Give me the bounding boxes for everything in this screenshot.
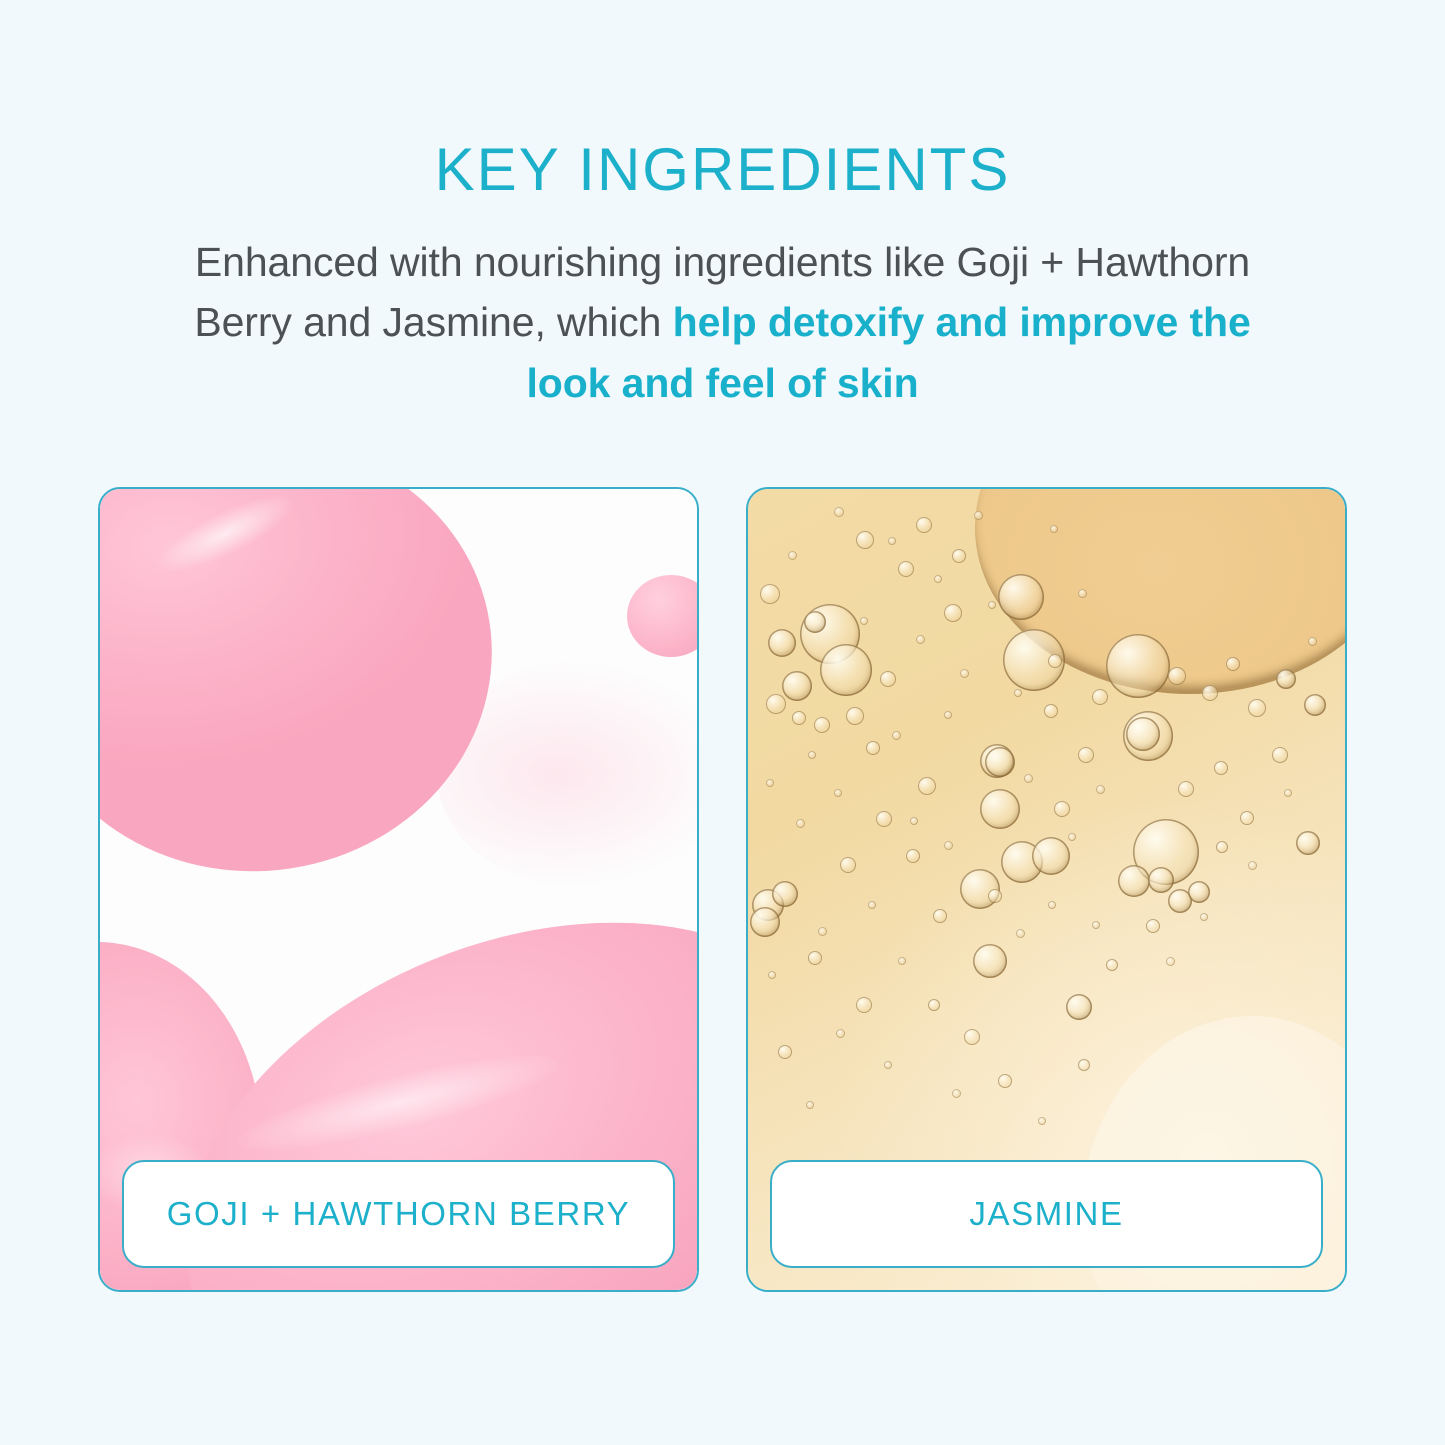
oil-bubble [1200, 913, 1208, 921]
oil-bubble [1248, 699, 1266, 717]
card-caption-panel: JASMINE [770, 1160, 1323, 1268]
oil-bubble [782, 671, 812, 701]
oil-bubble [766, 694, 786, 714]
page-title: KEY INGREDIENTS [0, 0, 1445, 200]
oil-bubble [1016, 929, 1025, 938]
oil-bubble [898, 561, 914, 577]
header-block: KEY INGREDIENTS Enhanced with nourishing… [0, 0, 1445, 413]
oil-bubble [860, 617, 868, 625]
oil-bubble [1054, 801, 1070, 817]
oil-bubble [1092, 689, 1108, 705]
oil-bubble [1304, 694, 1326, 716]
oil-bubble [1226, 657, 1240, 671]
oil-bubble [1106, 634, 1170, 698]
oil-bubble [1214, 761, 1228, 775]
oil-bubble [906, 849, 920, 863]
oil-bubble [916, 635, 925, 644]
oil-bubble [768, 629, 796, 657]
oil-bubble [880, 671, 896, 687]
oil-bubble [1126, 717, 1160, 751]
oil-bubble [1038, 1117, 1046, 1125]
ingredient-card-goji-hawthorn-berry[interactable]: GOJI + HAWTHORN BERRY [98, 487, 699, 1292]
oil-bubble [1308, 637, 1317, 646]
oil-bubble [1044, 704, 1058, 718]
oil-bubble [933, 909, 947, 923]
oil-bubble [836, 1029, 845, 1038]
oil-bubble [974, 511, 983, 520]
oil-bubble [1050, 525, 1058, 533]
oil-bubble [876, 811, 892, 827]
oil-bubble [834, 507, 844, 517]
oil-bubble [766, 779, 774, 787]
oil-bubble [1148, 867, 1174, 893]
ingredient-label: JASMINE [969, 1195, 1123, 1233]
oil-bubble [772, 881, 798, 907]
oil-bubble [814, 717, 830, 733]
oil-bubble [1248, 861, 1257, 870]
oil-bubble [1216, 841, 1228, 853]
oil-bubble [808, 951, 822, 965]
oil-bubble [778, 1045, 792, 1059]
oil-bubble [1188, 881, 1210, 903]
oil-bubble [944, 711, 952, 719]
oil-bubble [834, 789, 842, 797]
key-ingredients-infographic: KEY INGREDIENTS Enhanced with nourishing… [0, 0, 1445, 1445]
oil-bubble [1078, 589, 1087, 598]
oil-bubble [1092, 921, 1100, 929]
oil-bubble [1118, 865, 1150, 897]
oil-bubble [1146, 919, 1160, 933]
oil-bubble [980, 789, 1020, 829]
oil-bubble [964, 1029, 980, 1045]
oil-bubble [888, 537, 896, 545]
oil-bubble [985, 747, 1015, 777]
oil-bubble [944, 841, 953, 850]
oil-bubble [808, 751, 816, 759]
ingredient-card-row: GOJI + HAWTHORN BERRY [98, 487, 1347, 1292]
oil-bubble [998, 574, 1044, 620]
oil-bubble [928, 999, 940, 1011]
card-caption-panel: GOJI + HAWTHORN BERRY [122, 1160, 675, 1268]
oil-bubble [973, 944, 1007, 978]
oil-bubble [898, 957, 906, 965]
pink-blob-small-right [627, 575, 697, 657]
oil-bubble [884, 1061, 892, 1069]
oil-bubble [1166, 957, 1175, 966]
oil-bubble [1096, 785, 1105, 794]
oil-bubble [952, 1089, 961, 1098]
oil-bubble [910, 817, 918, 825]
oil-bubble [1048, 654, 1062, 668]
oil-bubble [988, 889, 1002, 903]
oil-bubble [856, 531, 874, 549]
oil-bubble [1240, 811, 1254, 825]
oil-bubble [1178, 781, 1194, 797]
oil-bubble [1078, 1059, 1090, 1071]
oil-bubble [998, 1074, 1012, 1088]
oil-bubble [804, 611, 826, 633]
oil-bubble [868, 901, 876, 909]
oil-bubble [1272, 747, 1288, 763]
ingredient-card-jasmine[interactable]: JASMINE [746, 487, 1347, 1292]
oil-bubble [988, 601, 996, 609]
oil-bubble [768, 971, 776, 979]
oil-bubble [820, 644, 872, 696]
oil-bubble [866, 741, 880, 755]
oil-bubble [1168, 667, 1186, 685]
oil-bubble [1048, 901, 1056, 909]
oil-bubble [960, 669, 969, 678]
oil-bubble [1066, 994, 1092, 1020]
oil-bubble [760, 584, 780, 604]
ingredient-label: GOJI + HAWTHORN BERRY [167, 1195, 631, 1233]
oil-bubble [934, 575, 942, 583]
oil-bubble [1068, 833, 1076, 841]
oil-bubble [750, 907, 780, 937]
pink-blob-top-left [100, 489, 513, 894]
oil-bubble [818, 927, 827, 936]
oil-bubble [792, 711, 806, 725]
oil-bubble [892, 731, 901, 740]
oil-bubble [916, 517, 932, 533]
oil-bubble [1202, 685, 1218, 701]
oil-bubble [1032, 837, 1070, 875]
oil-bubble [918, 777, 936, 795]
oil-bubble [1024, 774, 1033, 783]
oil-bubble [1284, 789, 1292, 797]
oil-bubble [1078, 747, 1094, 763]
oil-bubble [1106, 959, 1118, 971]
oil-bubble [806, 1101, 814, 1109]
oil-bubble [796, 819, 805, 828]
oil-bubble [788, 551, 797, 560]
oil-bubble [856, 997, 872, 1013]
oil-bubble [944, 604, 962, 622]
oil-bubble [1276, 669, 1296, 689]
oil-bubble [1014, 689, 1022, 697]
oil-bubble [952, 549, 966, 563]
oil-bubble [1296, 831, 1320, 855]
oil-bubble [846, 707, 864, 725]
oil-bubble [840, 857, 856, 873]
subtitle-text: Enhanced with nourishing ingredients lik… [168, 200, 1278, 413]
